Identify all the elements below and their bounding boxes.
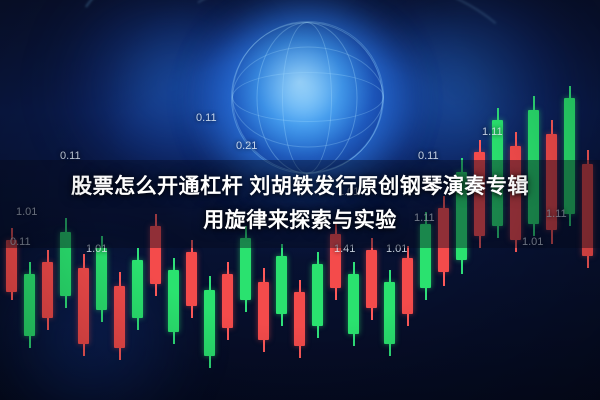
candlestick-up [276,244,287,326]
candlestick-up [204,276,215,368]
candlestick-up [384,270,395,356]
headline-line-2: 用旋律来探索与实验 [203,208,397,234]
candlestick-body [366,250,377,308]
candlestick-body [168,270,179,332]
candlestick-body [384,282,395,344]
candlestick-down [366,238,377,320]
candlestick-body [186,252,197,306]
candlestick-up [132,248,143,330]
candlestick-body [276,256,287,314]
candlestick-down [114,272,125,360]
candlestick-body [204,290,215,356]
candlestick-body [222,274,233,328]
candlestick-body [24,274,35,336]
candlestick-up [312,252,323,338]
stock-banner-image: 0.110.210.110.111.111.011.011.110.111.01… [0,0,600,400]
candlestick-down [42,250,53,330]
headline-text: 股票怎么开通杠杆 刘胡轶发行原创钢琴演奏专辑 用旋律来探索与实验 [0,160,600,248]
candlestick-down [402,246,413,326]
candlestick-body [402,258,413,314]
headline-line-1: 股票怎么开通杠杆 刘胡轶发行原创钢琴演奏专辑 [71,174,529,200]
candlestick-body [312,264,323,326]
candlestick-down [258,268,269,352]
candlestick-body [294,292,305,346]
candlestick-body [96,248,107,310]
candlestick-down [294,280,305,358]
candlestick-body [132,260,143,318]
candlestick-up [24,262,35,348]
candlestick-down [186,240,197,318]
candlestick-up [168,258,179,344]
candlestick-down [78,254,89,356]
candlestick-body [348,274,359,334]
candlestick-body [114,286,125,348]
candlestick-up [348,262,359,346]
candlestick-down [222,262,233,340]
candlestick-up [96,236,107,322]
candlestick-body [258,282,269,340]
candlestick-body [78,268,89,344]
candlestick-body [42,262,53,318]
